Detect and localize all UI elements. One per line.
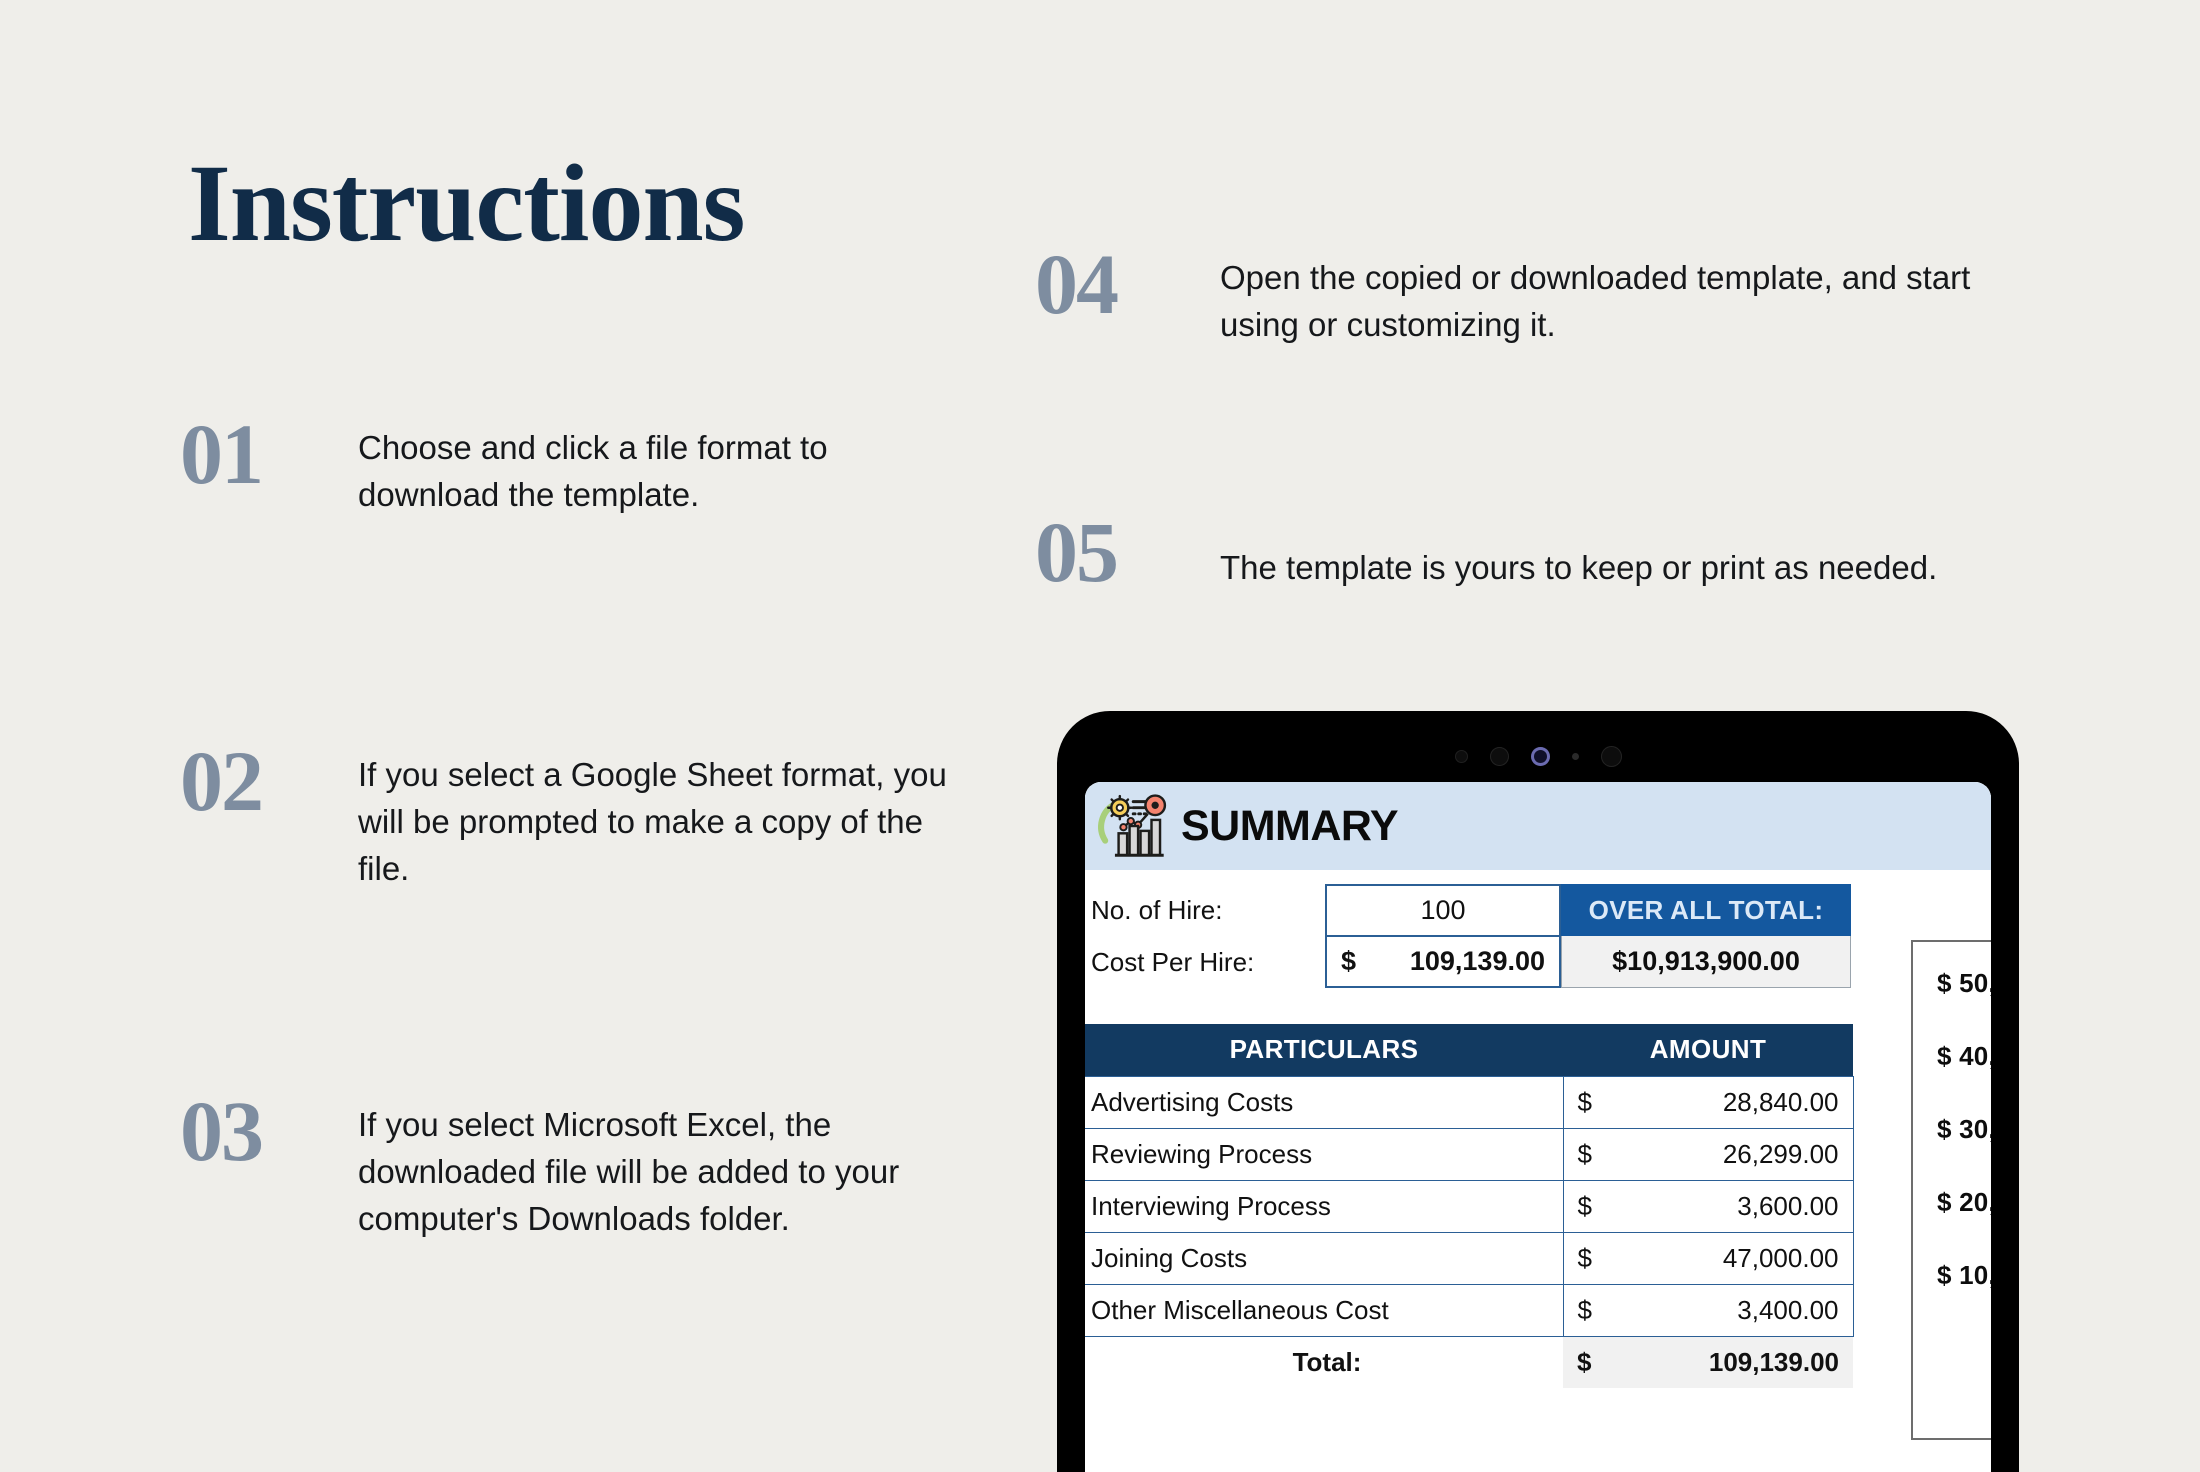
sensor-dot-icon [1572, 753, 1579, 760]
step-number: 04 [1035, 245, 1220, 324]
row-amount: $ 47,000.00 [1563, 1232, 1853, 1284]
page-title: Instructions [188, 148, 744, 258]
particulars-table: PARTICULARS AMOUNT Advertising Costs $ 2… [1085, 1024, 1854, 1388]
table-header-row: PARTICULARS AMOUNT [1085, 1024, 1853, 1076]
row-particular: Interviewing Process [1085, 1180, 1563, 1232]
y-axis-tick: $ 20,000 [1937, 1187, 1991, 1218]
no-of-hire-value[interactable]: 100 [1325, 884, 1561, 936]
amount-value: 3,600.00 [1737, 1191, 1838, 1222]
currency-symbol: $ [1341, 946, 1356, 977]
no-of-hire-label: No. of Hire: [1085, 884, 1325, 936]
instruction-step-03: 03 If you select Microsoft Excel, the do… [180, 1092, 980, 1243]
step-number: 05 [1035, 513, 1220, 592]
currency-symbol: $ [1578, 1243, 1592, 1274]
tablet-device-mockup: SUMMARY No. of Hire: 100 OVER ALL TOTAL:… [1058, 712, 2018, 1472]
y-axis-tick: $ 40,000 [1937, 1041, 1991, 1072]
column-header-amount: AMOUNT [1563, 1024, 1853, 1076]
sensor-dot-icon [1455, 750, 1468, 763]
instruction-step-05: 05 The template is yours to keep or prin… [1035, 513, 2045, 592]
step-number: 02 [180, 742, 358, 821]
instruction-step-01: 01 Choose and click a file format to dow… [180, 415, 960, 519]
total-label: Total: [1085, 1336, 1563, 1388]
total-value: 109,139.00 [1709, 1347, 1839, 1378]
over-all-total-label: OVER ALL TOTAL: [1561, 884, 1851, 936]
row-particular: Advertising Costs [1085, 1076, 1563, 1128]
table-row[interactable]: Joining Costs $ 47,000.00 [1085, 1232, 1853, 1284]
cost-per-hire-amount: 109,139.00 [1410, 946, 1545, 977]
y-axis-tick: $ 30,000 [1937, 1114, 1991, 1145]
y-axis-tick: $ 10,000 [1937, 1260, 1991, 1291]
step-number: 01 [180, 415, 358, 494]
chart-y-axis: $ 50,000 $ 40,000 $ 30,000 $ 20,000 $ 10… [1937, 968, 1991, 1291]
currency-symbol: $ [1577, 1347, 1591, 1378]
sensor-dot-icon [1490, 747, 1509, 766]
column-header-particulars: PARTICULARS [1085, 1024, 1563, 1076]
table-row[interactable]: Other Miscellaneous Cost $ 3,400.00 [1085, 1284, 1853, 1336]
row-particular: Joining Costs [1085, 1232, 1563, 1284]
cost-per-hire-value[interactable]: $ 109,139.00 [1325, 936, 1561, 988]
summary-row-no-of-hire: No. of Hire: 100 OVER ALL TOTAL: [1085, 884, 1991, 936]
row-amount: $ 28,840.00 [1563, 1076, 1853, 1128]
table-row[interactable]: Reviewing Process $ 26,299.00 [1085, 1128, 1853, 1180]
chart-panel[interactable]: $ 50,000 $ 40,000 $ 30,000 $ 20,000 $ 10… [1911, 940, 1991, 1440]
total-amount: $ 109,139.00 [1563, 1336, 1853, 1388]
amount-value: 3,400.00 [1737, 1295, 1838, 1326]
sheet-title: SUMMARY [1181, 802, 1398, 851]
step-text: If you select a Google Sheet format, you… [358, 742, 960, 893]
device-screen: SUMMARY No. of Hire: 100 OVER ALL TOTAL:… [1085, 782, 1991, 1472]
table-row[interactable]: Advertising Costs $ 28,840.00 [1085, 1076, 1853, 1128]
row-particular: Reviewing Process [1085, 1128, 1563, 1180]
front-camera-icon [1531, 747, 1550, 766]
row-amount: $ 26,299.00 [1563, 1128, 1853, 1180]
amount-value: 26,299.00 [1723, 1139, 1839, 1170]
currency-symbol: $ [1578, 1139, 1592, 1170]
currency-symbol: $ [1578, 1087, 1592, 1118]
currency-symbol: $ [1578, 1191, 1592, 1222]
sensor-dot-icon [1601, 746, 1622, 767]
summary-fields-block: No. of Hire: 100 OVER ALL TOTAL: Cost Pe… [1085, 870, 1991, 988]
instruction-step-02: 02 If you select a Google Sheet format, … [180, 742, 960, 893]
over-all-total-value: $10,913,900.00 [1561, 936, 1851, 988]
y-axis-tick: $ 50,000 [1937, 968, 1991, 999]
table-row[interactable]: Interviewing Process $ 3,600.00 [1085, 1180, 1853, 1232]
row-particular: Other Miscellaneous Cost [1085, 1284, 1563, 1336]
row-amount: $ 3,600.00 [1563, 1180, 1853, 1232]
step-text: The template is yours to keep or print a… [1220, 513, 1937, 592]
analytics-chart-icon [1093, 787, 1171, 865]
spreadsheet[interactable]: SUMMARY No. of Hire: 100 OVER ALL TOTAL:… [1085, 782, 1991, 1472]
row-amount: $ 3,400.00 [1563, 1284, 1853, 1336]
step-number: 03 [180, 1092, 358, 1171]
device-notch [1058, 738, 2018, 774]
amount-value: 28,840.00 [1723, 1087, 1839, 1118]
instruction-step-04: 04 Open the copied or downloaded templat… [1035, 245, 2035, 349]
summary-row-cost-per-hire: Cost Per Hire: $ 109,139.00 $10,913,900.… [1085, 936, 1991, 988]
step-text: Choose and click a file format to downlo… [358, 415, 960, 519]
cost-per-hire-label: Cost Per Hire: [1085, 936, 1325, 988]
table-total-row: Total: $ 109,139.00 [1085, 1336, 1853, 1388]
step-text: If you select Microsoft Excel, the downl… [358, 1092, 980, 1243]
currency-symbol: $ [1578, 1295, 1592, 1326]
spreadsheet-header: SUMMARY [1085, 782, 1991, 870]
amount-value: 47,000.00 [1723, 1243, 1839, 1274]
step-text: Open the copied or downloaded template, … [1220, 245, 2035, 349]
